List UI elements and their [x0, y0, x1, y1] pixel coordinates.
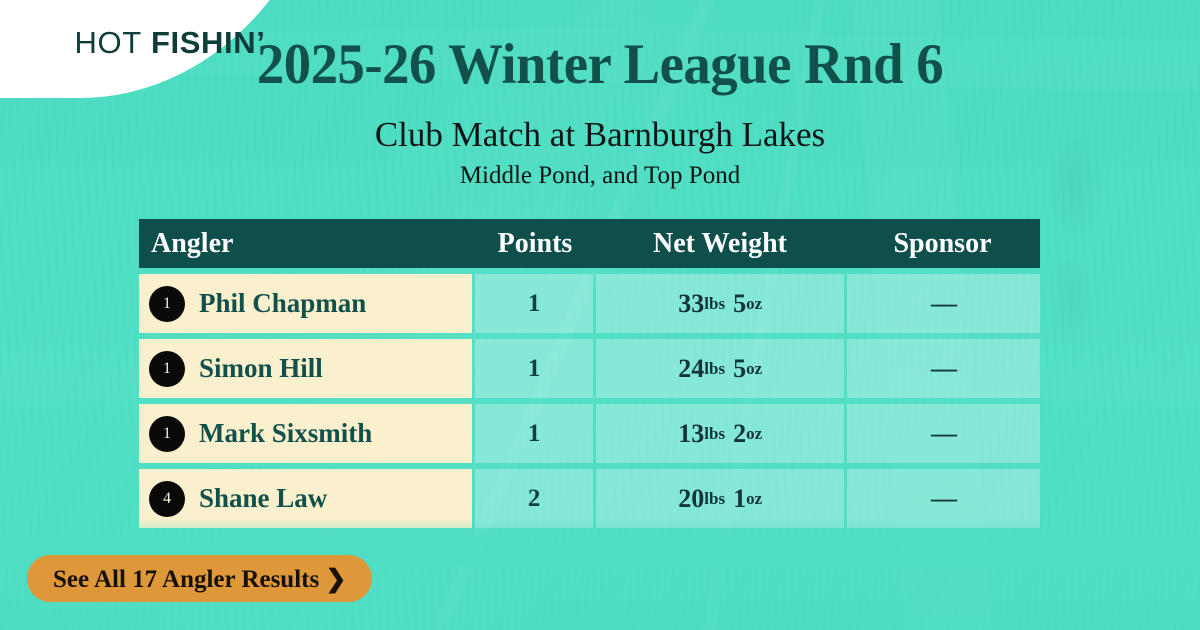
cell-net-weight: 13lbs2oz — [596, 404, 843, 463]
weight-oz-unit: oz — [746, 294, 762, 314]
weight-lbs-value: 24 — [678, 354, 704, 384]
column-header-net-weight: Net Weight — [595, 228, 845, 260]
sponsor-empty-dash: — — [931, 354, 956, 384]
column-header-sponsor: Sponsor — [845, 228, 1040, 260]
cell-sponsor: — — [847, 404, 1040, 463]
results-table: Angler Points Net Weight Sponsor 1 Phil … — [139, 219, 1040, 528]
table-header-row: Angler Points Net Weight Sponsor — [139, 219, 1040, 268]
cell-net-weight: 20lbs1oz — [596, 469, 843, 528]
cell-net-weight: 24lbs5oz — [596, 339, 843, 398]
column-header-points: Points — [475, 228, 595, 260]
see-all-results-button[interactable]: See All 17 Angler Results ❯ — [27, 555, 372, 602]
cell-sponsor: — — [847, 339, 1040, 398]
angler-name: Shane Law — [199, 483, 327, 514]
table-row[interactable]: 1 Mark Sixsmith 1 13lbs2oz — — [139, 404, 1040, 463]
cell-points: 2 — [475, 469, 594, 528]
weight-oz-value: 1 — [733, 484, 746, 514]
angler-name: Simon Hill — [199, 353, 323, 384]
cell-angler: 1 Mark Sixsmith — [139, 404, 472, 463]
weight-lbs-value: 33 — [678, 289, 704, 319]
header-block: 2025-26 Winter League Rnd 6 Club Match a… — [0, 0, 1200, 189]
weight-oz-value: 2 — [733, 419, 746, 449]
rank-badge: 1 — [149, 416, 185, 452]
cell-sponsor: — — [847, 469, 1040, 528]
page-subtitle: Club Match at Barnburgh Lakes — [0, 116, 1200, 155]
sponsor-empty-dash: — — [931, 484, 956, 514]
column-header-angler: Angler — [139, 228, 475, 260]
rank-badge: 4 — [149, 481, 185, 517]
weight-lbs-unit: lbs — [704, 294, 725, 314]
cell-angler: 1 Phil Chapman — [139, 274, 472, 333]
table-row[interactable]: 1 Simon Hill 1 24lbs5oz — — [139, 339, 1040, 398]
weight-lbs-unit: lbs — [704, 359, 725, 379]
weight-lbs-unit: lbs — [704, 424, 725, 444]
cell-points: 1 — [475, 339, 594, 398]
table-row[interactable]: 4 Shane Law 2 20lbs1oz — — [139, 469, 1040, 528]
sponsor-empty-dash: — — [931, 419, 956, 449]
rank-badge: 1 — [149, 351, 185, 387]
weight-lbs-value: 13 — [678, 419, 704, 449]
weight-oz-unit: oz — [746, 424, 762, 444]
cell-sponsor: — — [847, 274, 1040, 333]
rank-badge: 1 — [149, 286, 185, 322]
weight-oz-value: 5 — [733, 354, 746, 384]
weight-lbs-unit: lbs — [704, 489, 725, 509]
cell-angler: 4 Shane Law — [139, 469, 472, 528]
angler-name: Phil Chapman — [199, 288, 366, 319]
cell-angler: 1 Simon Hill — [139, 339, 472, 398]
cell-points: 1 — [475, 404, 594, 463]
cell-points: 1 — [475, 274, 594, 333]
weight-oz-value: 5 — [733, 289, 746, 319]
page-title: 2025-26 Winter League Rnd 6 — [24, 35, 1176, 94]
weight-oz-unit: oz — [746, 359, 762, 379]
cell-net-weight: 33lbs5oz — [596, 274, 843, 333]
table-row[interactable]: 1 Phil Chapman 1 33lbs5oz — — [139, 274, 1040, 333]
sponsor-empty-dash: — — [931, 289, 956, 319]
venue-detail: Middle Pond, and Top Pond — [0, 162, 1200, 190]
weight-lbs-value: 20 — [678, 484, 704, 514]
weight-oz-unit: oz — [746, 489, 762, 509]
angler-name: Mark Sixsmith — [199, 418, 372, 449]
